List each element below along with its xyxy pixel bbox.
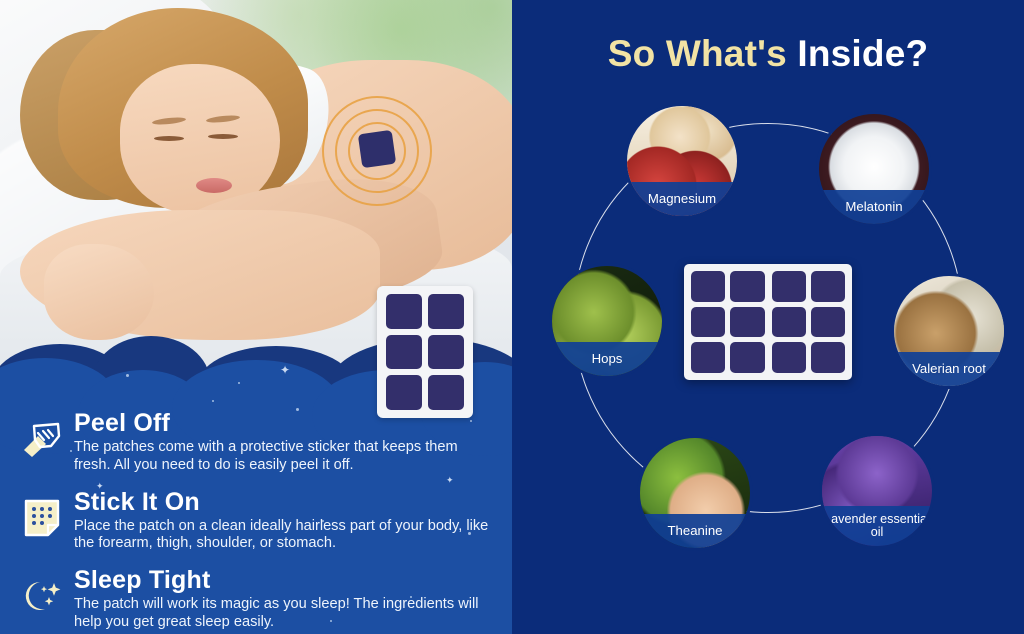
- ingredient-label: Hops: [552, 342, 662, 376]
- step-peel-off: Peel Off The patches come with a protect…: [18, 410, 502, 475]
- patch: [730, 342, 764, 373]
- lips: [196, 178, 232, 193]
- patch: [772, 342, 806, 373]
- patch-sheet-right: [772, 271, 846, 373]
- patch: [428, 294, 464, 329]
- step-description: Place the patch on a clean ideally hairl…: [74, 518, 489, 554]
- patch: [811, 342, 845, 373]
- ingredient-hops[interactable]: Hops: [552, 266, 662, 376]
- step-description: The patch will work its magic as you sle…: [74, 596, 489, 632]
- step-body: Peel Off The patches come with a protect…: [74, 410, 502, 475]
- steps-list: Peel Off The patches come with a protect…: [18, 410, 502, 634]
- patch: [772, 271, 806, 302]
- ingredient-magnesium[interactable]: Magnesium: [627, 106, 737, 216]
- patch: [772, 307, 806, 338]
- step-title: Sleep Tight: [74, 567, 502, 594]
- ingredient-label: Valerian root: [894, 352, 1004, 386]
- right-panel: So What's Inside? Magnesium Melatonin Ho…: [512, 0, 1024, 634]
- hand: [44, 244, 154, 340]
- patch-pack-left: [377, 286, 473, 418]
- ingredient-label: Lavender essential oil: [822, 506, 932, 546]
- left-panel: ✦ ✦ ✦ Peel Off The patches come with a p…: [0, 0, 512, 634]
- eye-left: [154, 136, 184, 141]
- patch: [691, 271, 725, 302]
- ingredient-label: Melatonin: [819, 190, 929, 224]
- page-title: So What's Inside?: [512, 33, 1024, 75]
- patch-sheet-left: [691, 271, 765, 373]
- patch: [811, 307, 845, 338]
- ingredient-theanine[interactable]: Theanine: [640, 438, 750, 548]
- patch-sheet-icon: [18, 495, 66, 541]
- patch: [386, 294, 422, 329]
- moon-stars-icon: [18, 573, 66, 619]
- patch: [428, 335, 464, 370]
- patch: [691, 307, 725, 338]
- ingredient-label: Theanine: [640, 514, 750, 548]
- step-body: Stick It On Place the patch on a clean i…: [74, 489, 502, 554]
- title-accent: So What's: [608, 33, 787, 74]
- ingredient-label: Magnesium: [627, 182, 737, 216]
- ingredient-lavender-essential-oil[interactable]: Lavender essential oil: [822, 436, 932, 546]
- ingredient-valerian-root[interactable]: Valerian root: [894, 276, 1004, 386]
- eye-right: [208, 134, 238, 139]
- center-patch-pack: [684, 264, 852, 380]
- patch: [811, 271, 845, 302]
- patch-pulse-rings: [322, 96, 432, 206]
- patch: [386, 375, 422, 410]
- peel-hand-icon: [18, 416, 66, 462]
- patch: [730, 271, 764, 302]
- title-rest: Inside?: [797, 33, 928, 74]
- step-sleep-tight: Sleep Tight The patch will work its magi…: [18, 567, 502, 632]
- ingredient-melatonin[interactable]: Melatonin: [819, 114, 929, 224]
- patch: [730, 307, 764, 338]
- bottom-strip: [512, 618, 1024, 634]
- step-stick-it-on: Stick It On Place the patch on a clean i…: [18, 489, 502, 554]
- patch: [691, 342, 725, 373]
- step-title: Stick It On: [74, 489, 502, 516]
- step-description: The patches come with a protective stick…: [74, 439, 489, 475]
- ingredient-wheel: Magnesium Melatonin Hops Valerian root T…: [532, 96, 1004, 596]
- patch: [386, 335, 422, 370]
- patch: [428, 375, 464, 410]
- sleep-patch-on-shoulder: [358, 130, 396, 168]
- infographic-page: ✦ ✦ ✦ Peel Off The patches come with a p…: [0, 0, 1024, 634]
- step-body: Sleep Tight The patch will work its magi…: [74, 567, 502, 632]
